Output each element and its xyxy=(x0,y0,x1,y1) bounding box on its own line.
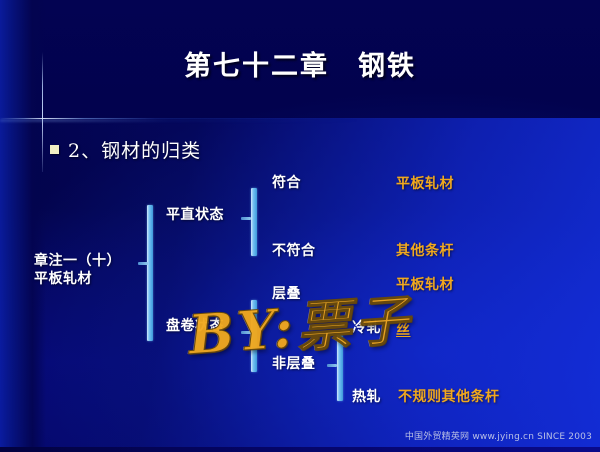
diagram-outcome-other-bars: 其他条杆 xyxy=(396,243,454,260)
decorative-horizontal-line-glow xyxy=(0,119,600,122)
bullet-row: 2、钢材的归类 xyxy=(50,136,201,163)
connector-flat-state-to-level2 xyxy=(241,217,251,220)
footer-bar xyxy=(0,447,600,452)
brace-level2-upper xyxy=(251,188,257,256)
diagram-branch-flat-state: 平直状态 xyxy=(166,207,224,224)
diagram-outcome-irregular-other-bars: 不规则其他条杆 xyxy=(398,389,500,406)
bullet-label: 2、钢材的归类 xyxy=(68,136,201,163)
diagram-root-label: 章注一（十） 平板轧材 xyxy=(34,252,121,288)
brace-level1 xyxy=(147,205,153,341)
connector-nonstacked-to-level3 xyxy=(327,364,337,367)
slide-canvas: 第七十二章 钢铁 2、钢材的归类 章注一（十） 平板轧材 平直状态 盘卷状态 符… xyxy=(0,0,600,452)
diagram-node-nonconforming: 不符合 xyxy=(272,243,316,260)
connector-root-to-level1 xyxy=(138,262,148,265)
diagram-outcome-flat-rolled-1: 平板轧材 xyxy=(396,176,454,193)
square-bullet-icon xyxy=(50,145,59,154)
diagram-node-conforming: 符合 xyxy=(272,175,301,192)
diagram-node-hot-rolled: 热轧 xyxy=(352,389,381,406)
watermark-text: BY:票子 xyxy=(186,275,415,369)
footer-credit: 中国外贸精英网 www.jying.cn SINCE 2003 xyxy=(405,429,592,442)
page-title: 第七十二章 钢铁 xyxy=(0,44,600,83)
